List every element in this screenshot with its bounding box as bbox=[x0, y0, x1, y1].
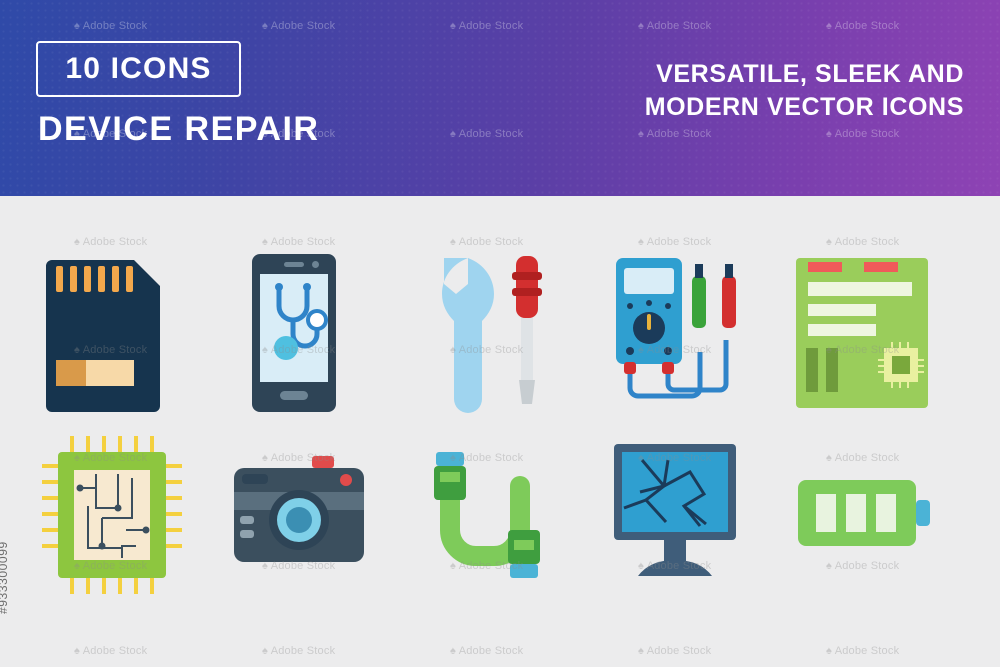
battery-icon bbox=[788, 430, 938, 600]
icon-count-badge: 10 ICONS bbox=[36, 41, 241, 97]
smartphone-diagnostics-icon bbox=[224, 248, 374, 418]
icon-count-label: 10 ICONS bbox=[65, 52, 211, 86]
stock-id-label: #933300099 bbox=[0, 541, 10, 614]
header-banner: 10 ICONS DEVICE REPAIR VERSATILE, SLEEK … bbox=[0, 0, 1000, 196]
tagline-line-1: VERSATILE, SLEEK AND bbox=[444, 58, 964, 91]
page-title: DEVICE REPAIR bbox=[38, 110, 319, 149]
motherboard-icon bbox=[788, 248, 938, 418]
image-canvas: 10 ICONS DEVICE REPAIR VERSATILE, SLEEK … bbox=[0, 0, 1000, 667]
multimeter-icon bbox=[600, 248, 750, 418]
cpu-chip-icon bbox=[36, 430, 186, 600]
tagline-line-2: MODERN VECTOR ICONS bbox=[444, 91, 964, 124]
broken-monitor-icon bbox=[600, 430, 750, 600]
sd-memory-card-icon bbox=[36, 248, 186, 418]
icon-grid: #933300099 bbox=[0, 196, 1000, 667]
wrench-screwdriver-icon bbox=[412, 248, 562, 418]
ethernet-cable-icon bbox=[412, 430, 562, 600]
camera-icon bbox=[224, 430, 374, 600]
tagline: VERSATILE, SLEEK AND MODERN VECTOR ICONS bbox=[444, 58, 964, 124]
